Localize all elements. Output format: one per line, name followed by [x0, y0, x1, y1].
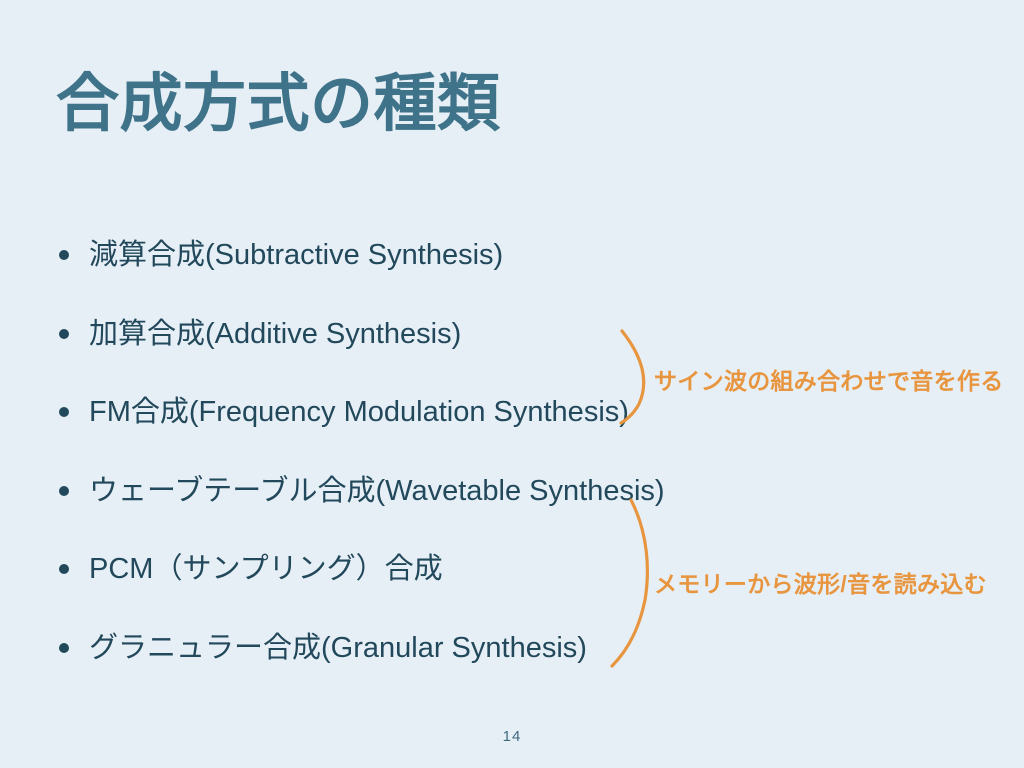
list-item-label: ウェーブテーブル合成(Wavetable Synthesis) [89, 468, 665, 514]
bullet-dot-icon [59, 643, 69, 653]
list-item-label: 減算合成(Subtractive Synthesis) [89, 232, 503, 278]
list-item: PCM（サンプリング）合成 [52, 546, 752, 625]
synthesis-type-list: 減算合成(Subtractive Synthesis) 加算合成(Additiv… [52, 232, 752, 704]
list-item-label: グラニュラー合成(Granular Synthesis) [89, 625, 587, 671]
list-item: FM合成(Frequency Modulation Synthesis) [52, 389, 752, 468]
annotation-label-additive: サイン波の組み合わせで音を作る [654, 362, 1004, 396]
list-item: 加算合成(Additive Synthesis) [52, 311, 752, 390]
bullet-dot-icon [59, 564, 69, 574]
list-item: グラニュラー合成(Granular Synthesis) [52, 625, 752, 704]
list-item: 減算合成(Subtractive Synthesis) [52, 232, 752, 311]
bullet-dot-icon [59, 407, 69, 417]
list-item-label: FM合成(Frequency Modulation Synthesis) [89, 389, 629, 435]
page-title: 合成方式の種類 [56, 68, 501, 140]
list-item-label: 加算合成(Additive Synthesis) [89, 311, 461, 357]
bullet-dot-icon [59, 329, 69, 339]
slide-canvas: 合成方式の種類 減算合成(Subtractive Synthesis) 加算合成… [0, 0, 1024, 768]
bullet-dot-icon [59, 486, 69, 496]
list-item-label: PCM（サンプリング）合成 [89, 546, 443, 592]
bullet-dot-icon [59, 250, 69, 260]
annotation-label-sample: メモリーから波形/音を読み込む [654, 565, 987, 599]
list-item: ウェーブテーブル合成(Wavetable Synthesis) [52, 468, 752, 547]
page-number: 14 [0, 728, 1024, 745]
